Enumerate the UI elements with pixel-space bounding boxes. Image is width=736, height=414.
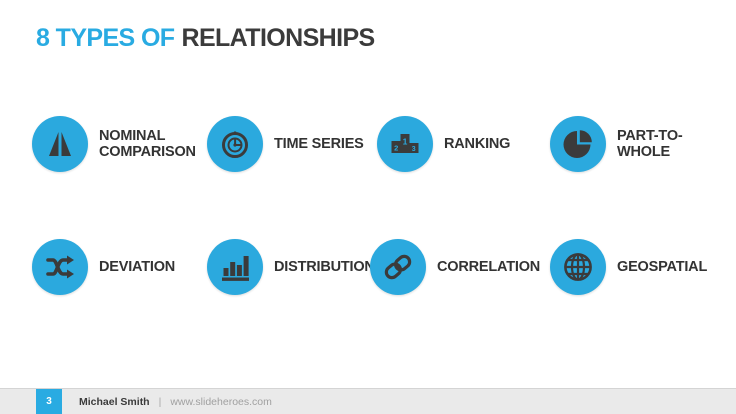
pie-chart-icon (550, 116, 606, 172)
item-part-to-whole[interactable]: PART-TO-WHOLE (550, 104, 725, 184)
item-distribution[interactable]: DISTRIBUTION (207, 227, 375, 307)
bar-chart-icon (207, 239, 263, 295)
item-correlation[interactable]: CORRELATION (370, 227, 540, 307)
item-label: PART-TO-WHOLE (617, 128, 725, 160)
page-number-badge: 3 (36, 389, 62, 414)
relationship-types-grid: NOMINAL COMPARISON TIME SERIES (0, 104, 736, 350)
item-time-series[interactable]: TIME SERIES (207, 104, 364, 184)
item-label: NOMINAL COMPARISON (99, 128, 207, 160)
slide-canvas: 8 TYPES OFRELATIONSHIPS NOMINAL COMPARIS… (0, 0, 736, 414)
item-label: CORRELATION (437, 259, 540, 275)
page-title: 8 TYPES OFRELATIONSHIPS (36, 26, 375, 51)
item-ranking[interactable]: 1 2 3 RANKING (377, 104, 510, 184)
footer-author: Michael Smith (79, 396, 150, 408)
globe-icon (550, 239, 606, 295)
svg-text:1: 1 (403, 137, 408, 147)
podium-icon: 1 2 3 (377, 116, 433, 172)
page-title-main: RELATIONSHIPS (181, 24, 374, 52)
chain-link-icon (370, 239, 426, 295)
road-perspective-icon (32, 116, 88, 172)
footer-separator: | (159, 396, 162, 408)
svg-text:2: 2 (394, 144, 398, 153)
grid-row-1: NOMINAL COMPARISON TIME SERIES (0, 104, 736, 227)
item-label: DISTRIBUTION (274, 259, 375, 275)
item-label: RANKING (444, 136, 510, 152)
footer-bar: 3 Michael Smith | www.slideheroes.com (0, 388, 736, 414)
item-geospatial[interactable]: GEOSPATIAL (550, 227, 707, 307)
footer-website: www.slideheroes.com (170, 396, 272, 408)
item-nominal-comparison[interactable]: NOMINAL COMPARISON (32, 104, 207, 184)
shuffle-arrows-icon (32, 239, 88, 295)
item-label: DEVIATION (99, 259, 175, 275)
grid-row-2: DEVIATION DISTRIBUTION (0, 227, 736, 350)
page-title-highlight: 8 TYPES OF (36, 24, 174, 52)
clock-icon (207, 116, 263, 172)
item-label: GEOSPATIAL (617, 259, 707, 275)
item-deviation[interactable]: DEVIATION (32, 227, 175, 307)
svg-text:3: 3 (412, 146, 416, 153)
item-label: TIME SERIES (274, 136, 364, 152)
